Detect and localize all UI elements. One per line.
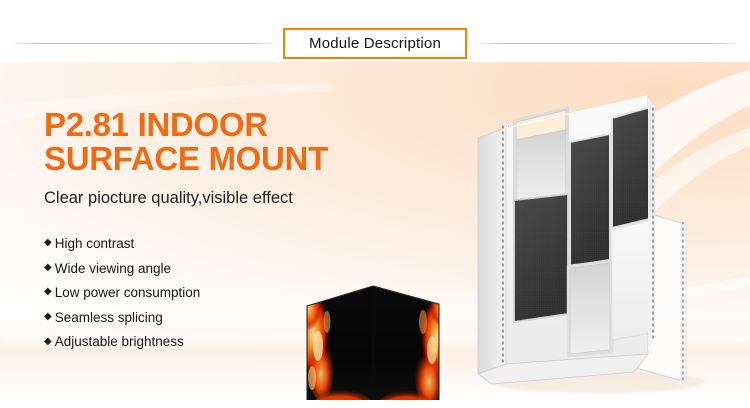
feature-label: Low power consumption (55, 281, 201, 306)
diamond-bullet-icon: ◆ (44, 263, 52, 273)
page-title: P2.81 INDOOR SURFACE MOUNT (44, 108, 374, 176)
list-item: ◆ Adjustable brightness (44, 330, 374, 355)
diamond-bullet-icon: ◆ (44, 287, 52, 297)
diamond-bullet-icon: ◆ (44, 337, 52, 347)
list-item: ◆ Wide viewing angle (44, 257, 374, 282)
hero-subtitle: Clear piocture quality,visible effect (44, 189, 374, 208)
list-item: ◆ Low power consumption (44, 281, 374, 306)
feature-label: Adjustable brightness (55, 330, 184, 355)
diamond-bullet-icon: ◆ (44, 238, 52, 248)
led-cabinet-image (458, 82, 748, 400)
title-line-1: P2.81 INDOOR (44, 108, 374, 142)
header-rule-left (8, 43, 281, 44)
feature-label: Wide viewing angle (55, 257, 171, 282)
feature-list: ◆ High contrast ◆ Wide viewing angle ◆ L… (44, 232, 374, 355)
module-description-banner: Module Description (0, 0, 750, 408)
feature-label: High contrast (55, 232, 135, 257)
banner-header: Module Description (0, 0, 750, 62)
section-title-badge: Module Description (283, 28, 467, 59)
title-line-2: SURFACE MOUNT (44, 142, 374, 176)
section-title-text: Module Description (309, 35, 441, 52)
list-item: ◆ Seamless splicing (44, 306, 374, 331)
list-item: ◆ High contrast (44, 232, 374, 257)
diamond-bullet-icon: ◆ (44, 312, 52, 322)
hero-stage: P2.81 INDOOR SURFACE MOUNT Clear pioctur… (0, 62, 750, 400)
hero-copy: P2.81 INDOOR SURFACE MOUNT Clear pioctur… (44, 108, 374, 355)
header-rule-right (474, 43, 742, 44)
feature-label: Seamless splicing (55, 306, 163, 331)
